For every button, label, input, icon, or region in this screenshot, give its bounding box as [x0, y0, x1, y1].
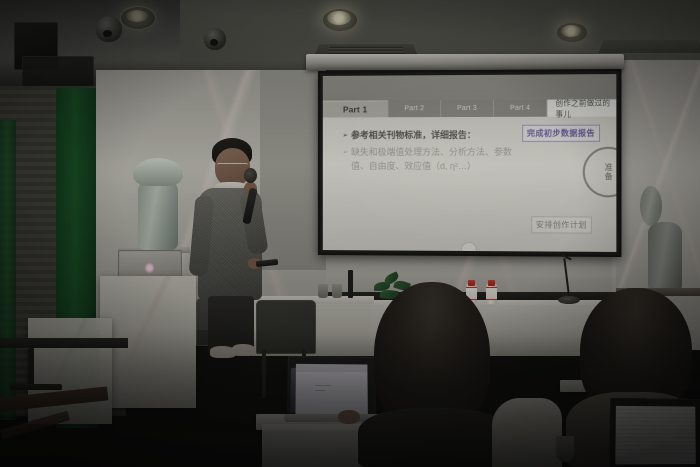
cup-1: [318, 284, 328, 298]
decorative-bowl-right: [640, 186, 662, 226]
presenter: [186, 138, 282, 358]
slide-tab-bar: Part 1 Part 2 Part 3 Part 4 创作之前做过的事儿: [323, 99, 617, 117]
security-camera-center: [204, 28, 226, 50]
presenter-shoe-right: [232, 344, 256, 356]
projector-screen-housing: [306, 54, 624, 70]
apple-logo-icon: [145, 263, 154, 273]
mug-foreground: [556, 436, 574, 462]
laptop-spreadsheet-window: [616, 406, 696, 465]
audience-center-shoulders: [358, 408, 508, 467]
slide-bottom-node-dot: [461, 242, 477, 252]
screenshot-root: Part 1 Part 2 Part 3 Part 4 创作之前做过的事儿 ➢ …: [0, 0, 700, 467]
slide-bullet-list: ➢ 参考相关刊物标准，详细报告： ➢ 缺失和极端值处理方法、分析方法、参数值、自…: [342, 129, 513, 177]
audience-center-hand: [338, 410, 360, 424]
slide-bullet-2-text: 缺失和极端值处理方法、分析方法、参数值、自由度、效应值（d, η²…）: [351, 146, 513, 174]
slide-bullet-2: ➢ 缺失和极端值处理方法、分析方法、参数值、自由度、效应值（d, η²…）: [342, 146, 513, 174]
left-desk-microphone-stem: [28, 348, 34, 386]
slide-tab-part-4[interactable]: Part 4: [494, 100, 547, 117]
audience-foreground-shoulder: [492, 398, 562, 467]
audience-member-center: [352, 282, 512, 467]
handheld-microphone-head: [244, 168, 257, 183]
green-wall-panel-edge: [0, 120, 16, 420]
marble-pillar-left: [28, 318, 112, 424]
slide-tab-part-1[interactable]: Part 1: [323, 100, 389, 117]
slide-body: ➢ 参考相关刊物标准，详细报告： ➢ 缺失和极端值处理方法、分析方法、参数值、自…: [323, 116, 617, 251]
slide-callout-primary: 完成初步数据报告: [522, 125, 600, 142]
slide-callout-secondary: 安排创作计划: [531, 216, 592, 233]
slide-title-tab: 创作之前做过的事儿: [547, 99, 616, 116]
cup-2: [332, 284, 342, 298]
slide-preparation-circle: 准备: [583, 147, 617, 198]
audience-laptop-right[interactable]: [610, 398, 700, 467]
security-camera-left: [96, 16, 122, 42]
presenter-remote-clicker: [256, 259, 279, 267]
bullet-marker-icon: ➢: [342, 129, 348, 143]
projection-screen: Part 1 Part 2 Part 3 Part 4 创作之前做过的事儿 ➢ …: [318, 69, 622, 257]
left-desk-microphone-base: [10, 384, 62, 390]
ceiling-light-right: [561, 25, 581, 37]
slide-tab-part-2[interactable]: Part 2: [389, 100, 442, 117]
slide-bullet-1: ➢ 参考相关刊物标准，详细报告：: [342, 129, 513, 143]
decorative-vase-left: [138, 158, 178, 250]
slide-tab-part-3[interactable]: Part 3: [441, 100, 494, 117]
ceiling-ac-vent-right: [597, 39, 700, 54]
ceiling-light-center: [327, 11, 351, 25]
bullet-marker-icon: ➢: [342, 146, 348, 174]
ceiling-light-left: [126, 10, 148, 22]
slide-bullet-1-text: 参考相关刊物标准，详细报告：: [351, 129, 476, 143]
glasses-icon: [217, 163, 248, 170]
left-foreground-desk-top: [0, 338, 128, 348]
slide-circle-label: 准备: [604, 163, 612, 181]
decorative-vase-right: [648, 222, 682, 292]
slide-surface: Part 1 Part 2 Part 3 Part 4 创作之前做过的事儿 ➢ …: [323, 74, 617, 252]
audience-laptop-right-screen: [609, 398, 700, 467]
audience-desk-center-front: [262, 424, 366, 467]
audience-member-foreground: [492, 398, 562, 467]
